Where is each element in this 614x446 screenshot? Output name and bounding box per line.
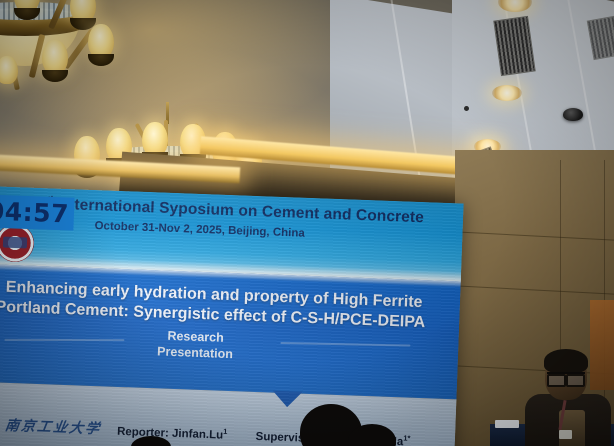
person-hair — [544, 349, 588, 373]
supervisor-affiliation-mark: 1* — [403, 433, 410, 442]
university-name-cn: 南京工业大学 — [4, 415, 103, 438]
name-badge — [559, 430, 572, 439]
university-crest-icon — [0, 416, 1, 434]
reporter-affiliation-mark: 1 — [223, 427, 227, 436]
dome-security-camera-icon — [563, 108, 583, 121]
countdown-timer: 04:57 — [0, 194, 75, 230]
paper-sheet — [495, 420, 519, 428]
eyeglasses-icon — [547, 372, 585, 383]
reporter-name: Jinfan.Lu — [172, 428, 224, 442]
wall-accent-panel — [590, 300, 614, 390]
conference-room-photo: th International Syposium on Cement and … — [0, 0, 614, 446]
downlight-icon — [492, 85, 522, 101]
countdown-timer-value: 04:57 — [0, 197, 70, 229]
chevron-down-icon — [272, 391, 303, 408]
ceiling-sensor-icon — [464, 106, 469, 111]
university-logo: 南京工业大学 — [0, 414, 102, 438]
